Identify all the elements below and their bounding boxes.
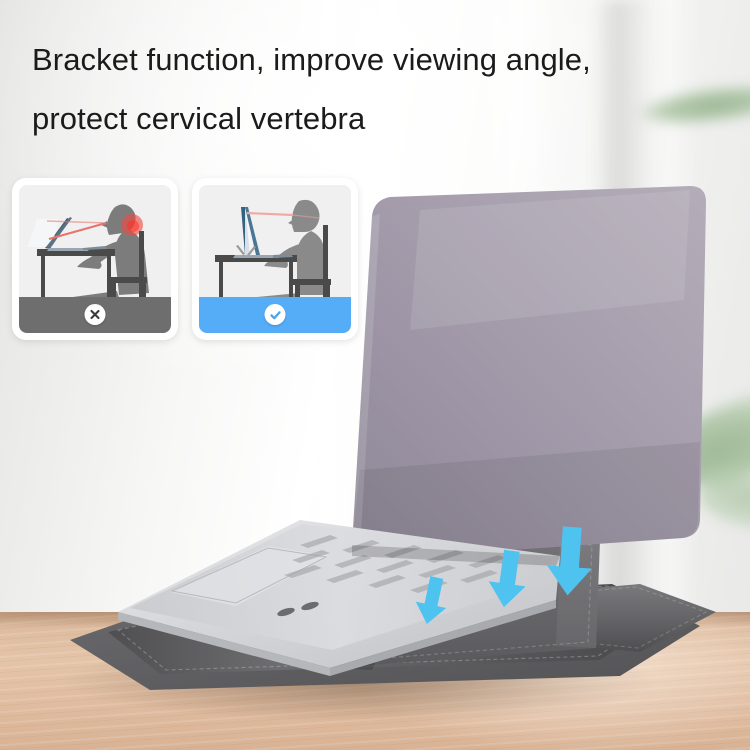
product-marketing-image: Bracket function, improve viewing angle,…	[0, 0, 750, 750]
bad-posture-illustration	[19, 185, 171, 333]
good-posture-panel	[192, 178, 358, 340]
page-title: Bracket function, improve viewing angle,…	[32, 30, 722, 148]
cross-icon	[85, 304, 106, 325]
good-posture-illustration	[199, 185, 351, 333]
check-icon	[265, 304, 286, 325]
fold-arrow-2	[485, 548, 530, 609]
fold-arrow-1	[412, 574, 452, 627]
bad-posture-panel	[12, 178, 178, 340]
fold-arrow-3	[545, 525, 595, 596]
